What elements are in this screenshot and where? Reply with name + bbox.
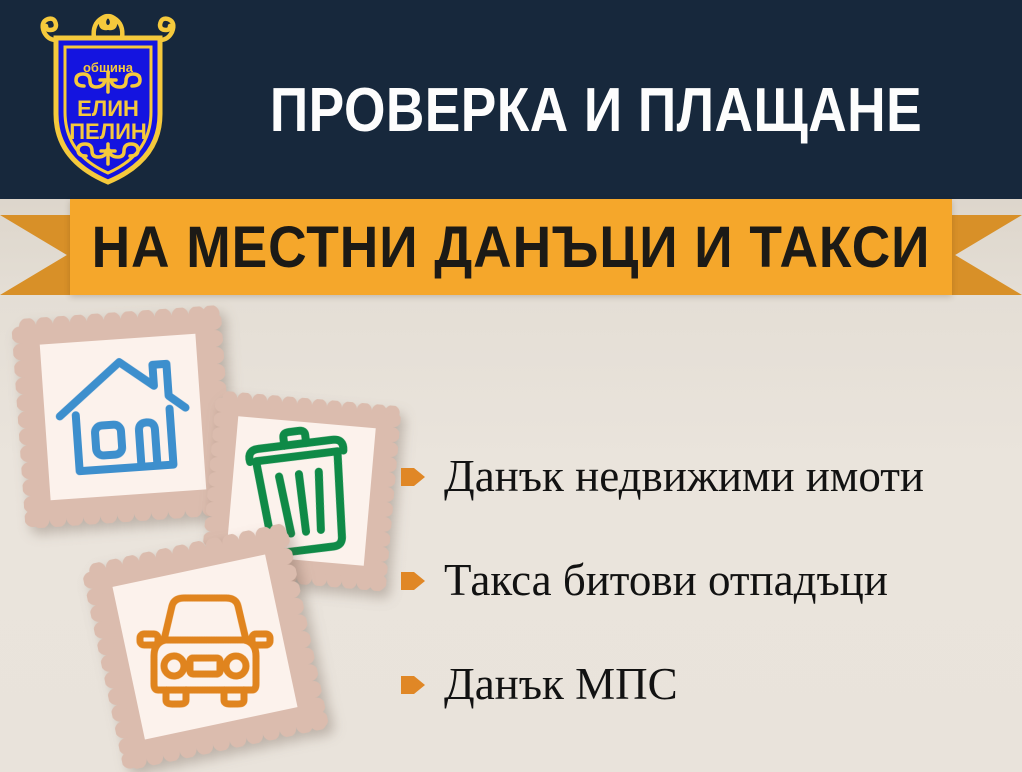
page-title-line-1: ПРОВЕРКА И ПЛАЩАНЕ [243,79,948,142]
list-item[interactable]: Данък недвижими имоти [400,424,1010,528]
stamp-vehicle-tax [80,522,329,771]
header-bar: община ЕЛИН ПЕЛИН [0,0,1022,199]
poster-canvas: Данък недвижими имоти Такса битови отпад… [0,0,1022,772]
list-item-label: Данък недвижими имоти [444,454,924,499]
list-item-label: Данък МПС [444,662,678,707]
subtitle-ribbon: НА МЕСТНИ ДАНЪЦИ И ТАКСИ [0,199,1022,304]
list-item-label: Такса битови отпадъци [444,558,888,603]
ribbon-label: НА МЕСТНИ ДАНЪЦИ И ТАКСИ [105,199,916,295]
crest-name-line1: ЕЛИН [77,96,139,121]
municipality-coat-of-arms: община ЕЛИН ПЕЛИН [34,10,182,188]
stamp-border-shape [11,305,235,529]
arrow-bullet-icon [400,465,430,491]
service-list: Данък недвижими имоти Такса битови отпад… [400,424,1010,736]
crest-name-line2: ПЕЛИН [69,119,147,144]
stamp-border-shape [80,522,329,771]
stamp-property-tax [11,305,235,529]
list-item[interactable]: Данък МПС [400,632,1010,736]
arrow-bullet-icon [400,569,430,595]
list-item[interactable]: Такса битови отпадъци [400,528,1010,632]
arrow-bullet-icon [400,673,430,699]
ribbon-band: НА МЕСТНИ ДАНЪЦИ И ТАКСИ [70,199,952,295]
